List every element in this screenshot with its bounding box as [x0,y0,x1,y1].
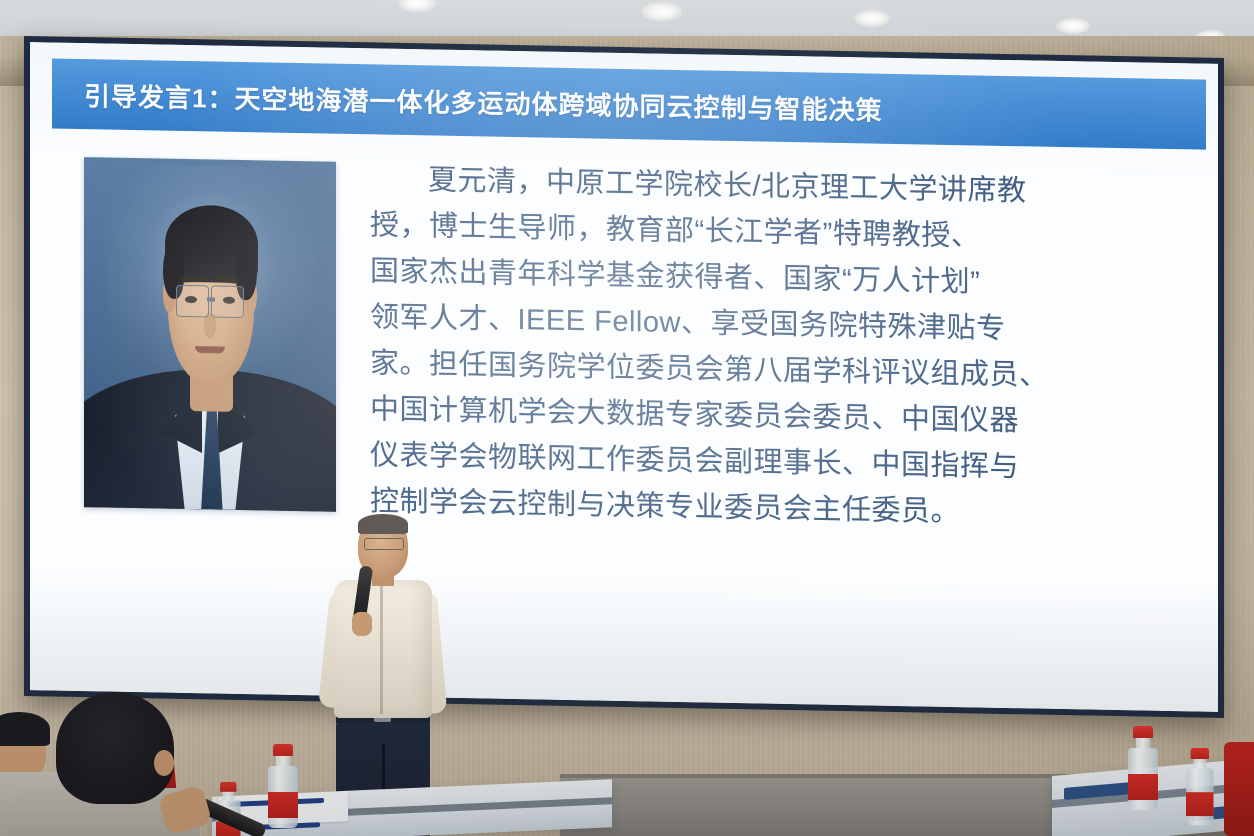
bottle-neck [1136,738,1150,748]
portrait-container [84,157,336,512]
bottle-neck [1193,759,1206,768]
ceiling-light-icon [1056,18,1090,34]
speaker-hand [352,612,372,636]
projection-screen: 引导发言1：天空地海潜一体化多运动体跨域协同云控制与智能决策 [30,42,1218,712]
slide-title-text: 引导发言1：天空地海潜一体化多运动体跨域协同云控制与智能决策 [52,75,882,127]
water-bottle [1128,726,1158,810]
slide-biography-text: 夏元清，中原工学院校长/北京理工大学讲席教 授，博士生导师，教育部“长江学者”特… [370,156,1192,539]
bottle-body [1186,768,1214,825]
speaker-shirt-placket [380,586,383,714]
bottle-label [1186,792,1214,816]
audience-hair [56,692,174,804]
bottle-neck [276,756,290,766]
bottle-cap [220,782,236,792]
portrait-nose [204,313,217,338]
bottle-cap [273,744,293,756]
portrait-eyeglass-bridge [207,298,215,302]
speaker-eyeglasses-icon [364,538,404,550]
bottle-cap [1133,726,1153,738]
presentation-photo-scene: 引导发言1：天空地海潜一体化多运动体跨域协同云控制与智能决策 [0,0,1254,836]
speaker-shirt [334,580,432,718]
water-bottle [268,744,298,828]
audience-ear [154,750,174,776]
bottle-label [1128,774,1158,800]
presentation-slide: 引导发言1：天空地海潜一体化多运动体跨域协同云控制与智能决策 [30,42,1218,712]
speaker-hair [358,514,408,534]
ceiling-light-icon [854,10,890,27]
portrait-chin [187,351,232,376]
bottle-body [1128,748,1158,810]
bottle-body [268,766,298,828]
slide-title-bar: 引导发言1：天空地海潜一体化多运动体跨域协同云控制与智能决策 [52,59,1206,150]
slide-body: 夏元清，中原工学院校长/北京理工大学讲席教 授，博士生导师，教育部“长江学者”特… [52,137,1206,702]
bottle-neck [223,792,234,800]
ceiling-light-icon [642,2,682,21]
portrait-eyeglass-right [211,285,245,317]
audience-member-foreground [10,692,190,836]
chair-red [1224,742,1254,836]
speaker-portrait-photo [84,157,336,512]
projection-screen-frame: 引导发言1：天空地海潜一体化多运动体跨域协同云控制与智能决策 [24,36,1224,718]
bottle-label [268,792,298,818]
water-bottle [1186,748,1214,825]
bottle-cap [1191,748,1209,759]
portrait-eyeglass-left [176,285,210,317]
